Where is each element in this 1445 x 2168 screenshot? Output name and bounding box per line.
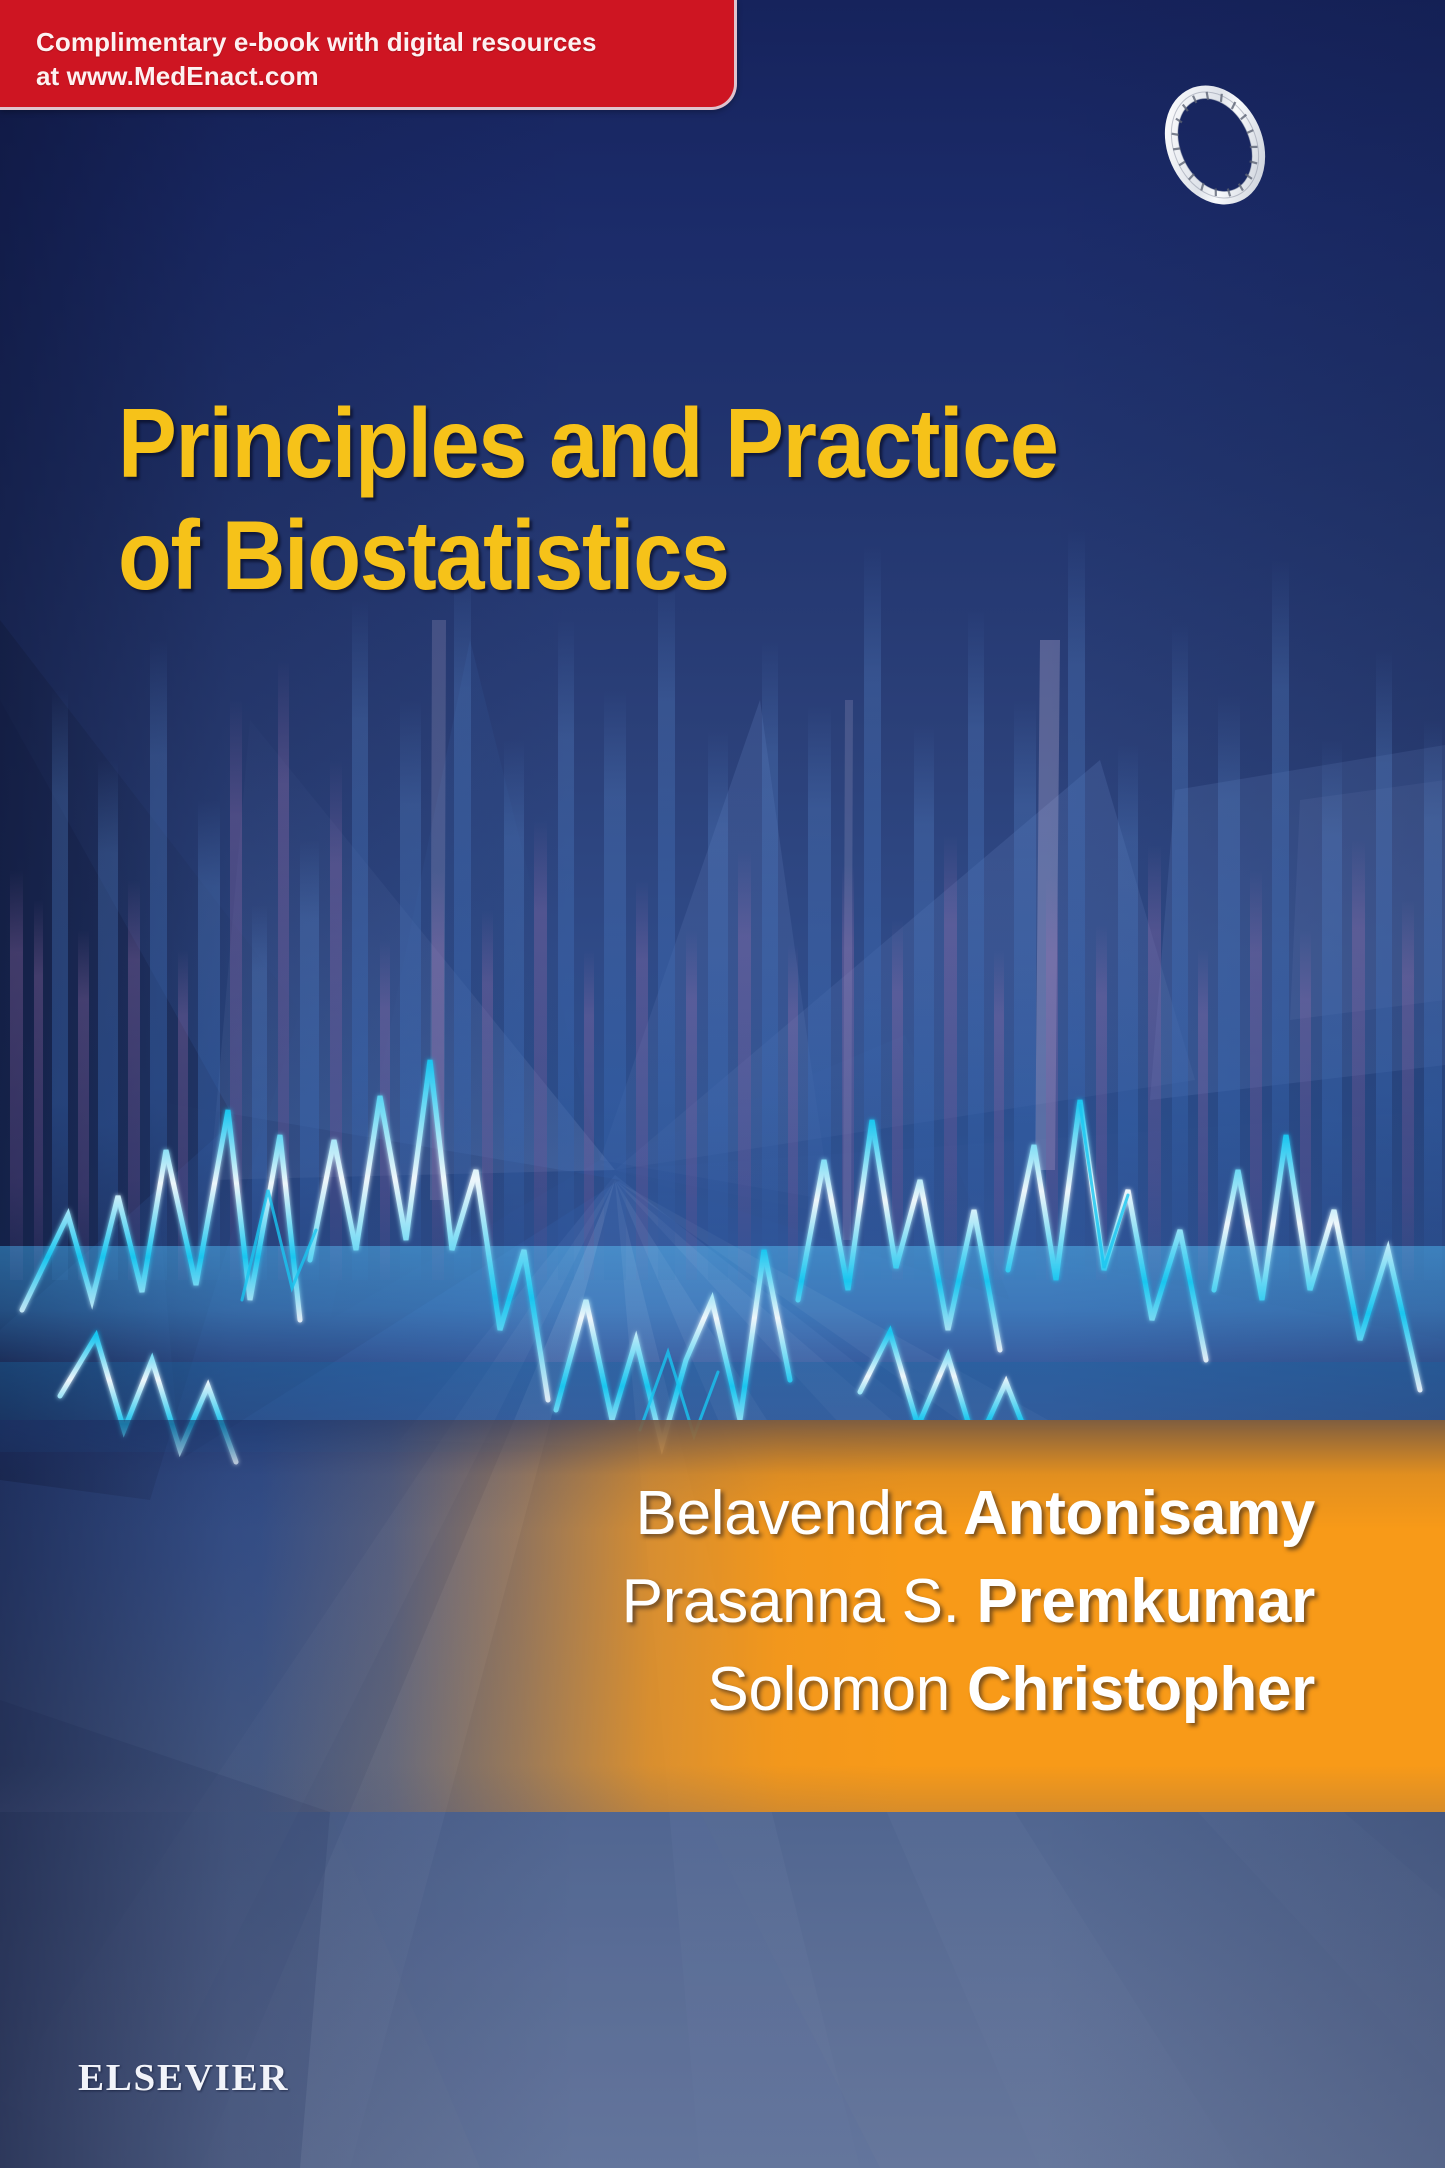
author-2-first: Prasanna S. (622, 1567, 960, 1636)
author-3: Solomon Christopher (0, 1646, 1315, 1734)
book-cover: Complimentary e-book with digital resour… (0, 0, 1445, 2168)
title-line-2: of Biostatistics (118, 500, 1180, 612)
author-3-first: Solomon (707, 1655, 950, 1724)
platinum-edition-seal-icon (1153, 75, 1278, 215)
author-3-last: Christopher (967, 1655, 1315, 1724)
author-2: Prasanna S. Premkumar (0, 1558, 1315, 1646)
author-1: Belavendra Antonisamy (0, 1470, 1315, 1558)
author-list: Belavendra Antonisamy Prasanna S. Premku… (0, 1470, 1315, 1734)
book-title: Principles and Practice of Biostatistics (118, 388, 1298, 611)
promo-banner: Complimentary e-book with digital resour… (0, 0, 737, 110)
publisher-logo: ELSEVIER (78, 2056, 289, 2100)
title-line-1: Principles and Practice (118, 388, 1180, 500)
ekg-waveform-graphics (0, 1000, 1445, 1470)
promo-line-1: Complimentary e-book with digital resour… (36, 26, 734, 60)
author-1-first: Belavendra (636, 1479, 947, 1548)
publisher-name: ELSEVIER (78, 2057, 289, 2099)
promo-line-2: at www.MedEnact.com (36, 60, 734, 94)
author-1-last: Antonisamy (963, 1479, 1315, 1548)
author-2-last: Premkumar (977, 1567, 1315, 1636)
